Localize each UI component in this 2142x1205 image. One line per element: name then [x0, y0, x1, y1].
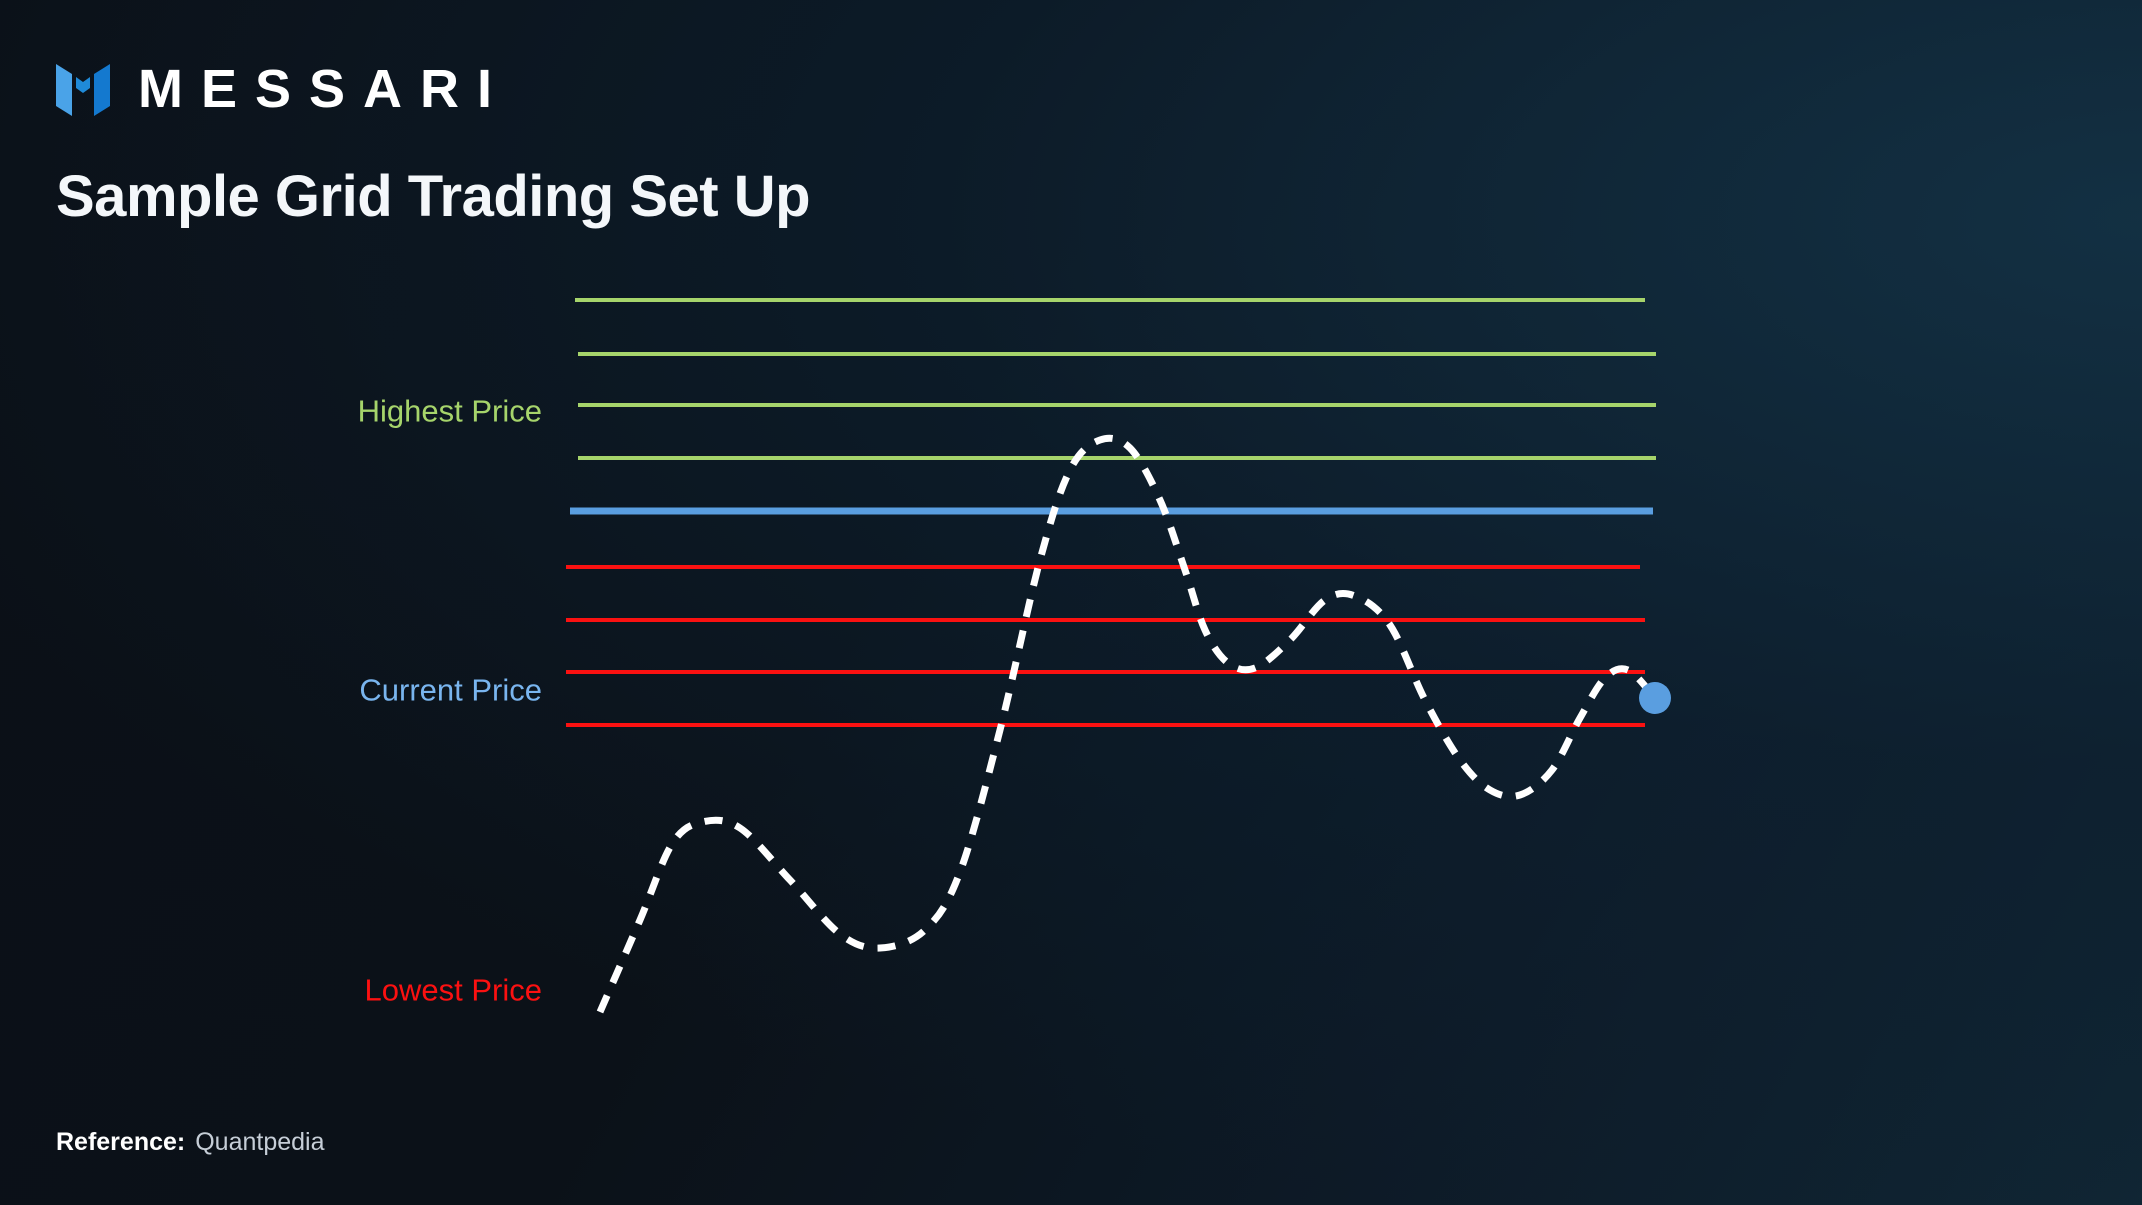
- axis-label-current-price: Current Price: [359, 675, 542, 706]
- reference-label: Reference:: [56, 1128, 185, 1156]
- grid-lines-group: [566, 300, 1656, 725]
- current-price-marker-group: [1639, 682, 1671, 714]
- axis-label-highest-price: Highest Price: [358, 395, 542, 426]
- reference-value: Quantpedia: [195, 1128, 324, 1156]
- grid-trading-chart: [0, 0, 2142, 1205]
- slide-canvas: MESSARI Sample Grid Trading Set Up Highe…: [0, 0, 2142, 1205]
- reference-footer: Reference:Quantpedia: [56, 1130, 325, 1155]
- current-price-marker[interactable]: [1639, 682, 1671, 714]
- axis-label-lowest-price: Lowest Price: [365, 975, 542, 1006]
